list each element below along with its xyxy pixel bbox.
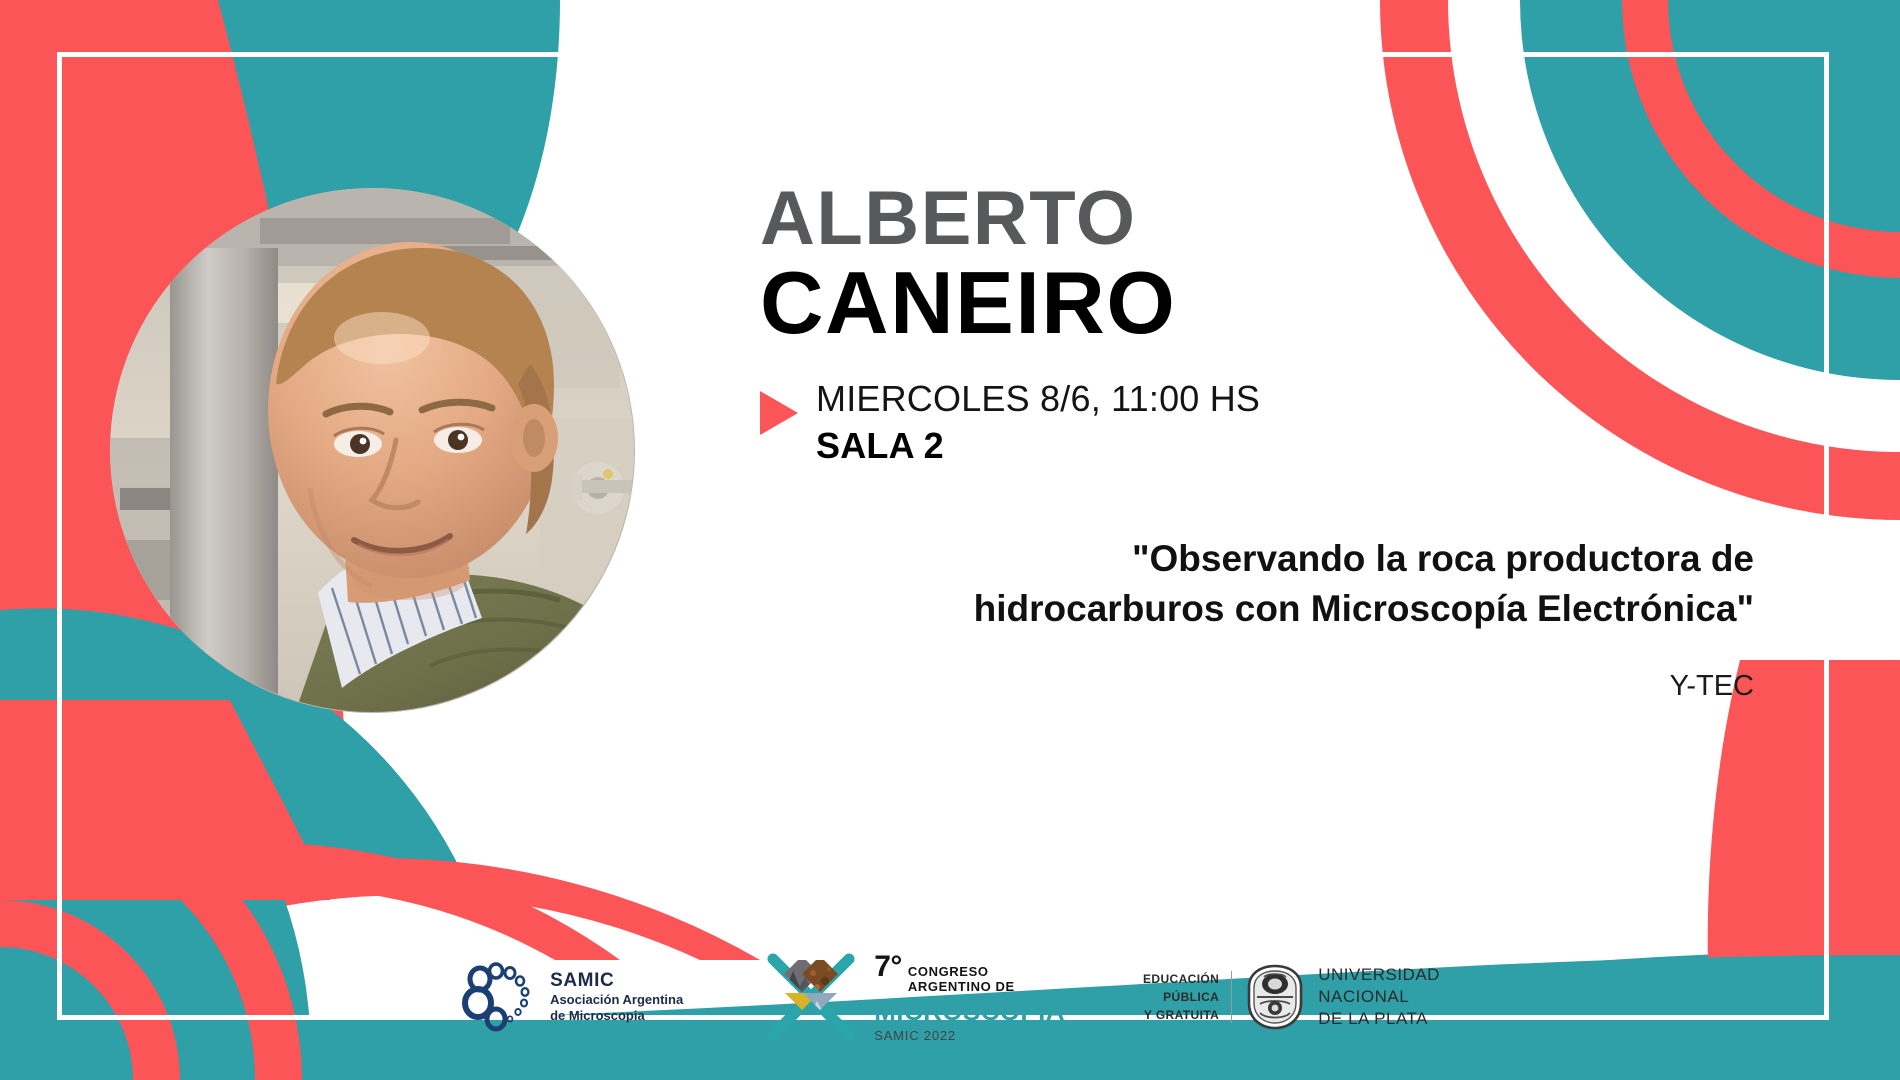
- samic-spiral-rings-icon: [460, 961, 538, 1033]
- talk-title-line-1: "Observando la roca productora de: [760, 534, 1754, 584]
- logo-samic: SAMIC Asociación Argentina de Microscopi…: [460, 961, 683, 1033]
- unlp-name-line-1: UNIVERSIDAD: [1318, 964, 1440, 986]
- speaker-portrait-photo: [110, 188, 635, 713]
- speaker-last-name: CANEIRO: [760, 258, 1760, 349]
- samic-subtitle-line-1: Asociación Argentina: [550, 992, 683, 1008]
- congress-ordinal: 7°: [874, 950, 902, 983]
- unlp-divider: [1231, 971, 1232, 1023]
- samic-subtitle-line-2: de Microscopia: [550, 1008, 683, 1024]
- congress-x-diamond-icon: [761, 951, 861, 1043]
- sponsor-logo-strip: SAMIC Asociación Argentina de Microscopi…: [0, 950, 1900, 1044]
- speaker-first-name: ALBERTO: [760, 180, 1760, 258]
- talk-title-line-2: hidrocarburos con Microscopía Electrónic…: [760, 584, 1754, 634]
- speaker-portrait: [110, 188, 635, 713]
- unlp-edu-line-2: PÚBLICA: [1143, 988, 1219, 1006]
- congress-line-1: CONGRESO: [908, 964, 1015, 979]
- unlp-name-line-2: NACIONAL: [1318, 986, 1440, 1008]
- unlp-name-line-3: DE LA PLATA: [1318, 1008, 1440, 1030]
- speaker-affiliation: Y-TEC: [760, 670, 1760, 703]
- logo-congress: 7° CONGRESO ARGENTINO DE MICROSCOPÍA SAM…: [761, 950, 1065, 1044]
- session-date-time: MIERCOLES 8/6, 11:00 HS: [816, 375, 1260, 423]
- event-announcement-poster: ALBERTO CANEIRO MIERCOLES 8/6, 11:00 HS …: [0, 0, 1900, 1080]
- logo-unlp: EDUCACIÓN PÚBLICA Y GRATUITA UNIVERSIDAD…: [1143, 963, 1440, 1031]
- congress-line-2: ARGENTINO DE: [908, 979, 1015, 994]
- samic-name: SAMIC: [550, 969, 683, 992]
- unlp-edu-line-3: Y GRATUITA: [1143, 1006, 1219, 1024]
- play-triangle-icon: [760, 391, 798, 435]
- congress-title: MICROSCOPÍA: [874, 997, 1065, 1026]
- session-room: SALA 2: [816, 422, 1260, 470]
- speaker-info-block: ALBERTO CANEIRO MIERCOLES 8/6, 11:00 HS …: [760, 180, 1760, 703]
- talk-title: "Observando la roca productora de hidroc…: [760, 534, 1760, 634]
- congress-year: SAMIC 2022: [874, 1029, 1065, 1043]
- unlp-crest-icon: [1244, 963, 1306, 1031]
- unlp-edu-line-1: EDUCACIÓN: [1143, 970, 1219, 988]
- session-schedule: MIERCOLES 8/6, 11:00 HS SALA 2: [760, 375, 1760, 470]
